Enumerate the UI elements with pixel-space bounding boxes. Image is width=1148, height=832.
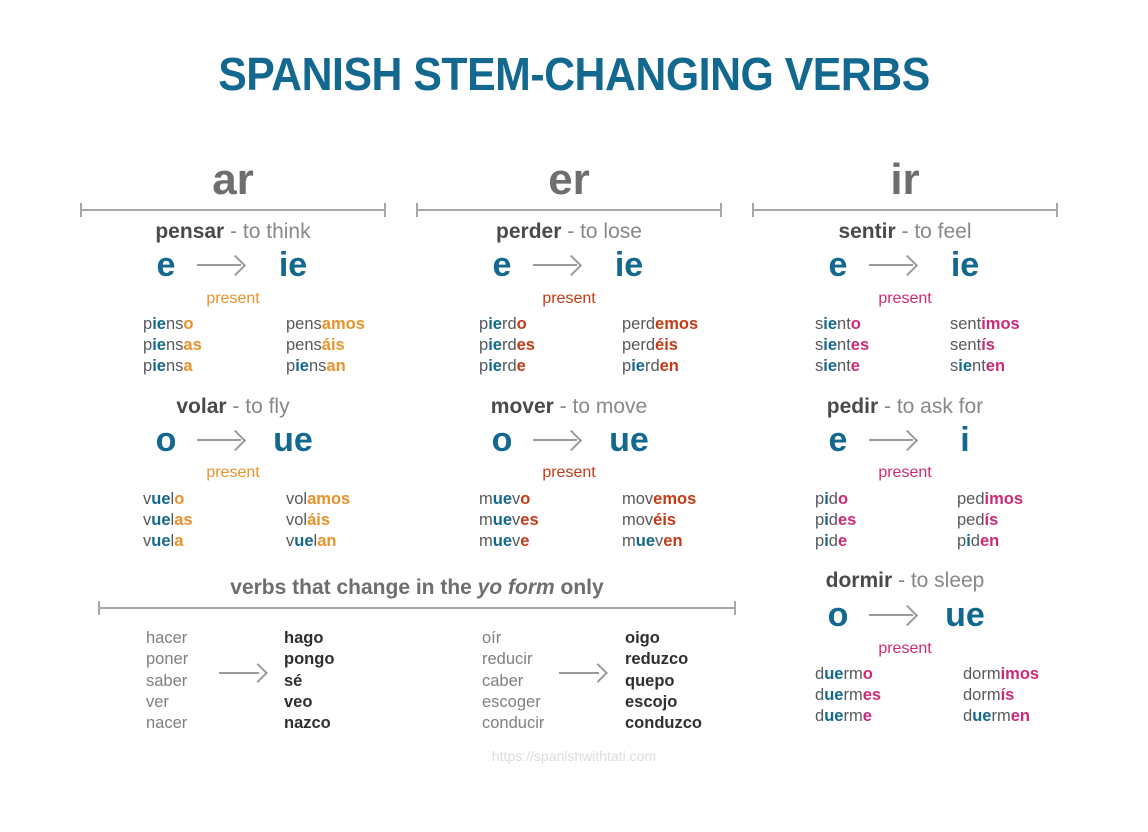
form-segment-gray: m bbox=[622, 532, 636, 550]
tense-label-pensar: present bbox=[80, 290, 386, 308]
verb-translation: to lose bbox=[580, 220, 642, 243]
conjugated-form: piensa bbox=[143, 356, 202, 377]
form-segment-accent: es bbox=[517, 336, 535, 354]
verb-title-pensar: pensar - to think bbox=[80, 220, 386, 244]
form-segment-blue: ue bbox=[294, 532, 313, 550]
yo-title-before: verbs that change in the bbox=[230, 576, 477, 599]
form-segment-gray: ns bbox=[166, 357, 183, 375]
rule-line bbox=[80, 209, 386, 211]
verb-word: pongo bbox=[284, 649, 334, 670]
conjugation-singular-volar: vuelovuelasvuela bbox=[143, 489, 193, 551]
stem-change-volar: o ue bbox=[80, 423, 386, 457]
verb-word: conducir bbox=[482, 713, 544, 734]
verb-dash: - bbox=[227, 395, 246, 418]
verb-word: escoger bbox=[482, 692, 544, 713]
form-segment-accent: e bbox=[863, 707, 872, 725]
form-segment-gray: v bbox=[286, 532, 294, 550]
verb-word: hacer bbox=[146, 628, 188, 649]
stem-change-dormir: o ue bbox=[752, 598, 1058, 632]
form-segment-gray: p bbox=[143, 315, 152, 333]
rule-cap-right bbox=[384, 203, 386, 217]
conjugated-form: pierdo bbox=[479, 314, 535, 335]
verb-infinitive: sentir bbox=[838, 220, 895, 243]
stem-to: ie bbox=[935, 248, 995, 282]
form-segment-gray: s bbox=[815, 336, 823, 354]
verb-infinitive: volar bbox=[176, 395, 226, 418]
conjugated-form: siento bbox=[815, 314, 869, 335]
form-segment-gray: nt bbox=[972, 357, 986, 375]
form-segment-accent: amos bbox=[307, 490, 350, 508]
stem-from: e bbox=[143, 248, 189, 282]
infographic-root: SPANISH STEM-CHANGING VERBS ar er ir pen… bbox=[0, 0, 1148, 832]
conjugated-form: duermen bbox=[963, 706, 1039, 727]
arrow-right-icon bbox=[531, 430, 593, 450]
yo-section-title: verbs that change in the yo form only bbox=[98, 576, 736, 600]
form-segment-gray: s bbox=[815, 315, 823, 333]
verb-title-dormir: dormir - to sleep bbox=[752, 569, 1058, 593]
conjugation-plural-mover: movemosmovéismueven bbox=[622, 489, 696, 551]
verb-word: escojo bbox=[625, 692, 702, 713]
form-segment-gray: d bbox=[963, 707, 972, 725]
stem-change-pensar: e ie bbox=[80, 248, 386, 282]
verb-word: reducir bbox=[482, 649, 544, 670]
form-segment-blue: ie bbox=[488, 357, 502, 375]
stem-to: ue bbox=[599, 423, 659, 457]
form-segment-blue: ie bbox=[488, 315, 502, 333]
form-segment-gray: v bbox=[143, 532, 151, 550]
form-segment-gray: p bbox=[815, 532, 824, 550]
column-heading-ar: ar bbox=[80, 158, 386, 202]
conjugation-plural-pensar: pensamospensáispiensan bbox=[286, 314, 365, 376]
form-segment-accent: a bbox=[174, 532, 183, 550]
yo-title-emphasis: yo form bbox=[478, 576, 555, 599]
rule-line bbox=[752, 209, 1058, 211]
form-segment-accent: emos bbox=[655, 315, 698, 333]
verb-infinitive: pensar bbox=[155, 220, 224, 243]
form-segment-blue: ue bbox=[493, 490, 512, 508]
form-segment-gray: p bbox=[286, 357, 295, 375]
conjugated-form: pierden bbox=[622, 356, 698, 377]
verb-dash: - bbox=[896, 220, 915, 243]
form-segment-accent: e bbox=[517, 357, 526, 375]
conjugated-form: sentimos bbox=[950, 314, 1020, 335]
verb-translation: to think bbox=[243, 220, 311, 243]
verb-dash: - bbox=[878, 395, 897, 418]
arrow-right-icon bbox=[195, 430, 257, 450]
form-segment-gray: m bbox=[479, 511, 493, 529]
form-segment-gray: rm bbox=[843, 665, 862, 683]
form-segment-blue: ue bbox=[151, 490, 170, 508]
verb-title-perder: perder - to lose bbox=[416, 220, 722, 244]
form-segment-gray: p bbox=[622, 357, 631, 375]
conjugated-form: siente bbox=[815, 356, 869, 377]
verb-title-volar: volar - to fly bbox=[80, 395, 386, 419]
stem-from: e bbox=[815, 423, 861, 457]
conjugation-plural-volar: volamosvoláisvuelan bbox=[286, 489, 350, 551]
conjugated-form: duermes bbox=[815, 685, 881, 706]
verb-dash: - bbox=[892, 569, 911, 592]
form-segment-blue: ue bbox=[493, 532, 512, 550]
conjugation-singular-perder: pierdopierdespierde bbox=[479, 314, 535, 376]
form-segment-accent: ís bbox=[985, 511, 999, 529]
rule-cap-right bbox=[720, 203, 722, 217]
verb-word: poner bbox=[146, 649, 188, 670]
form-segment-blue: ue bbox=[824, 686, 843, 704]
verb-translation: to move bbox=[573, 395, 648, 418]
form-segment-blue: ue bbox=[151, 532, 170, 550]
conjugation-singular-pensar: piensopiensaspiensa bbox=[143, 314, 202, 376]
conjugated-form: piensas bbox=[143, 335, 202, 356]
form-segment-accent: an bbox=[317, 532, 336, 550]
yo-forms-group-b: oigoreduzcoquepoescojoconduzco bbox=[625, 628, 702, 734]
form-segment-blue: ue bbox=[636, 532, 655, 550]
conjugated-form: pedís bbox=[957, 510, 1023, 531]
form-segment-gray: sent bbox=[950, 336, 981, 354]
form-segment-blue: ie bbox=[631, 357, 645, 375]
form-segment-accent: en bbox=[663, 532, 682, 550]
stem-from: o bbox=[815, 598, 861, 632]
form-segment-gray: d bbox=[829, 490, 838, 508]
conjugated-form: mueven bbox=[622, 531, 696, 552]
verb-word: saber bbox=[146, 671, 188, 692]
form-segment-gray: d bbox=[815, 707, 824, 725]
verb-word: conduzco bbox=[625, 713, 702, 734]
verb-infinitive: dormir bbox=[826, 569, 893, 592]
rule-cap-left bbox=[752, 203, 754, 217]
form-segment-gray: s bbox=[815, 357, 823, 375]
tense-label-volar: present bbox=[80, 464, 386, 482]
form-segment-gray: p bbox=[143, 357, 152, 375]
form-segment-gray: nt bbox=[837, 357, 851, 375]
tense-label-pedir: present bbox=[752, 464, 1058, 482]
form-segment-accent: áis bbox=[307, 511, 330, 529]
form-segment-accent: en bbox=[660, 357, 679, 375]
conjugated-form: pido bbox=[815, 489, 856, 510]
form-segment-gray: ped bbox=[957, 511, 985, 529]
verb-translation: to sleep bbox=[911, 569, 985, 592]
column-heading-er: er bbox=[416, 158, 722, 202]
conjugated-form: muevo bbox=[479, 489, 539, 510]
form-segment-accent: as bbox=[174, 511, 192, 529]
form-segment-blue: ue bbox=[493, 511, 512, 529]
verb-infinitive: mover bbox=[491, 395, 554, 418]
column-rule-ar bbox=[80, 203, 386, 217]
form-segment-accent: es bbox=[520, 511, 538, 529]
rule-cap-left bbox=[80, 203, 82, 217]
stem-to: i bbox=[935, 423, 995, 457]
page-title: SPANISH STEM-CHANGING VERBS bbox=[40, 47, 1108, 101]
form-segment-blue: ue bbox=[151, 511, 170, 529]
conjugated-form: movemos bbox=[622, 489, 696, 510]
form-segment-gray: rd bbox=[645, 357, 660, 375]
verb-dash: - bbox=[561, 220, 580, 243]
conjugated-form: pides bbox=[815, 510, 856, 531]
conjugated-form: pensamos bbox=[286, 314, 365, 335]
conjugated-form: sienten bbox=[950, 356, 1020, 377]
verb-word: caber bbox=[482, 671, 544, 692]
form-segment-gray: rd bbox=[502, 315, 517, 333]
stem-to: ie bbox=[263, 248, 323, 282]
form-segment-accent: amos bbox=[322, 315, 365, 333]
form-segment-accent: en bbox=[1011, 707, 1030, 725]
conjugated-form: movéis bbox=[622, 510, 696, 531]
form-segment-blue: ie bbox=[152, 357, 166, 375]
form-segment-gray: mov bbox=[622, 511, 653, 529]
form-segment-gray: d bbox=[815, 665, 824, 683]
form-segment-gray: vol bbox=[286, 511, 307, 529]
conjugation-singular-dormir: duermoduermesduerme bbox=[815, 664, 881, 726]
form-segment-gray: dorm bbox=[963, 686, 1001, 704]
form-segment-accent: áis bbox=[322, 336, 345, 354]
form-segment-blue: ie bbox=[823, 336, 837, 354]
form-segment-blue: ue bbox=[824, 665, 843, 683]
form-segment-accent: as bbox=[183, 336, 201, 354]
rule-cap-left bbox=[98, 601, 100, 615]
form-segment-accent: o bbox=[517, 315, 527, 333]
rule-cap-right bbox=[734, 601, 736, 615]
verb-translation: to feel bbox=[914, 220, 971, 243]
conjugated-form: pide bbox=[815, 531, 856, 552]
form-segment-gray: p bbox=[479, 357, 488, 375]
conjugated-form: perdemos bbox=[622, 314, 698, 335]
form-segment-gray: dorm bbox=[963, 665, 1001, 683]
conjugated-form: dormís bbox=[963, 685, 1039, 706]
conjugated-form: pierdes bbox=[479, 335, 535, 356]
stem-to: ue bbox=[263, 423, 323, 457]
form-segment-accent: an bbox=[326, 357, 345, 375]
form-segment-gray: nt bbox=[837, 315, 851, 333]
form-segment-gray: ns bbox=[309, 357, 326, 375]
form-segment-gray: rm bbox=[991, 707, 1010, 725]
rule-cap-left bbox=[416, 203, 418, 217]
form-segment-gray: ns bbox=[166, 336, 183, 354]
form-segment-gray: m bbox=[479, 490, 493, 508]
yo-section-rule bbox=[98, 601, 736, 615]
rule-line bbox=[416, 209, 722, 211]
conjugated-form: volamos bbox=[286, 489, 350, 510]
form-segment-gray: p bbox=[479, 336, 488, 354]
form-segment-accent: e bbox=[838, 532, 847, 550]
verb-word: quepo bbox=[625, 671, 702, 692]
arrow-right-icon bbox=[867, 430, 929, 450]
stem-from: e bbox=[815, 248, 861, 282]
conjugation-singular-mover: muevomuevesmueve bbox=[479, 489, 539, 551]
tense-label-perder: present bbox=[416, 290, 722, 308]
form-segment-accent: o bbox=[838, 490, 848, 508]
form-segment-gray: mov bbox=[622, 490, 653, 508]
form-segment-accent: o bbox=[863, 665, 873, 683]
conjugated-form: pierde bbox=[479, 356, 535, 377]
conjugation-singular-pedir: pidopidespide bbox=[815, 489, 856, 551]
verb-title-mover: mover - to move bbox=[416, 395, 722, 419]
tense-label-mover: present bbox=[416, 464, 722, 482]
form-segment-accent: e bbox=[851, 357, 860, 375]
form-segment-accent: o bbox=[174, 490, 184, 508]
form-segment-accent: imos bbox=[981, 315, 1020, 333]
column-rule-er bbox=[416, 203, 722, 217]
form-segment-blue: ie bbox=[295, 357, 309, 375]
yo-title-after: only bbox=[555, 576, 604, 599]
arrow-right-icon bbox=[867, 255, 929, 275]
form-segment-accent: es bbox=[863, 686, 881, 704]
conjugated-form: mueves bbox=[479, 510, 539, 531]
stem-change-perder: e ie bbox=[416, 248, 722, 282]
conjugated-form: vuelan bbox=[286, 531, 350, 552]
tense-label-sentir: present bbox=[752, 290, 1058, 308]
conjugation-plural-dormir: dormimosdormísduermen bbox=[963, 664, 1039, 726]
conjugated-form: duerme bbox=[815, 706, 881, 727]
form-segment-gray: perd bbox=[622, 315, 655, 333]
verb-translation: to fly bbox=[245, 395, 289, 418]
form-segment-accent: es bbox=[851, 336, 869, 354]
verb-infinitive: perder bbox=[496, 220, 561, 243]
footer-url: https://spanishwithtati.com bbox=[0, 748, 1148, 764]
form-segment-gray: m bbox=[479, 532, 493, 550]
form-segment-accent: imos bbox=[985, 490, 1024, 508]
form-segment-blue: ue bbox=[972, 707, 991, 725]
form-segment-gray: vol bbox=[286, 490, 307, 508]
form-segment-gray: d bbox=[815, 686, 824, 704]
form-segment-gray: d bbox=[829, 532, 838, 550]
form-segment-gray: v bbox=[143, 511, 151, 529]
form-segment-accent: e bbox=[520, 532, 529, 550]
arrow-right-icon-group-b bbox=[559, 664, 615, 682]
conjugated-form: vuela bbox=[143, 531, 193, 552]
form-segment-accent: imos bbox=[1001, 665, 1040, 683]
form-segment-gray: v bbox=[143, 490, 151, 508]
form-segment-gray: pens bbox=[286, 336, 322, 354]
yo-forms-group-a: hagopongoséveonazco bbox=[284, 628, 334, 734]
conjugation-plural-perder: perdemosperdéispierden bbox=[622, 314, 698, 376]
verb-word: veo bbox=[284, 692, 334, 713]
form-segment-accent: a bbox=[183, 357, 192, 375]
conjugated-form: sentís bbox=[950, 335, 1020, 356]
form-segment-gray: nt bbox=[837, 336, 851, 354]
stem-change-mover: o ue bbox=[416, 423, 722, 457]
form-segment-accent: es bbox=[838, 511, 856, 529]
form-segment-blue: ue bbox=[824, 707, 843, 725]
conjugated-form: pensáis bbox=[286, 335, 365, 356]
form-segment-blue: ie bbox=[823, 357, 837, 375]
form-segment-gray: p bbox=[143, 336, 152, 354]
conjugated-form: mueve bbox=[479, 531, 539, 552]
form-segment-accent: emos bbox=[653, 490, 696, 508]
conjugated-form: perdéis bbox=[622, 335, 698, 356]
form-segment-gray: p bbox=[957, 532, 966, 550]
conjugation-plural-sentir: sentimossentíssienten bbox=[950, 314, 1020, 376]
stem-from: o bbox=[143, 423, 189, 457]
conjugated-form: dormimos bbox=[963, 664, 1039, 685]
verb-word: nazco bbox=[284, 713, 334, 734]
stem-change-pedir: e i bbox=[752, 423, 1058, 457]
form-segment-accent: éis bbox=[655, 336, 678, 354]
form-segment-accent: en bbox=[986, 357, 1005, 375]
form-segment-gray: d bbox=[971, 532, 980, 550]
conjugated-form: pienso bbox=[143, 314, 202, 335]
stem-change-sentir: e ie bbox=[752, 248, 1058, 282]
rule-cap-right bbox=[1056, 203, 1058, 217]
conjugated-form: pedimos bbox=[957, 489, 1023, 510]
yo-infinitives-group-a: hacerponersabervernacer bbox=[146, 628, 188, 734]
verb-dash: - bbox=[554, 395, 573, 418]
form-segment-gray: sent bbox=[950, 315, 981, 333]
form-segment-gray: p bbox=[815, 511, 824, 529]
verb-title-sentir: sentir - to feel bbox=[752, 220, 1058, 244]
form-segment-accent: éis bbox=[653, 511, 676, 529]
verb-word: hago bbox=[284, 628, 334, 649]
stem-to: ue bbox=[935, 598, 995, 632]
yo-infinitives-group-b: oírreducircaberescogerconducir bbox=[482, 628, 544, 734]
arrow-right-icon bbox=[195, 255, 257, 275]
form-segment-gray: rd bbox=[502, 336, 517, 354]
form-segment-gray: d bbox=[829, 511, 838, 529]
conjugated-form: piensan bbox=[286, 356, 365, 377]
stem-to: ie bbox=[599, 248, 659, 282]
column-heading-ir: ir bbox=[752, 158, 1058, 202]
form-segment-blue: ie bbox=[152, 336, 166, 354]
arrow-right-icon bbox=[531, 255, 593, 275]
conjugated-form: duermo bbox=[815, 664, 881, 685]
verb-translation: to ask for bbox=[897, 395, 983, 418]
verb-dash: - bbox=[224, 220, 243, 243]
column-rule-ir bbox=[752, 203, 1058, 217]
conjugated-form: piden bbox=[957, 531, 1023, 552]
form-segment-blue: ie bbox=[152, 315, 166, 333]
verb-word: oír bbox=[482, 628, 544, 649]
form-segment-gray: ped bbox=[957, 490, 985, 508]
form-segment-accent: o bbox=[183, 315, 193, 333]
conjugation-plural-pedir: pedimospedíspiden bbox=[957, 489, 1023, 551]
form-segment-gray: perd bbox=[622, 336, 655, 354]
stem-from: o bbox=[479, 423, 525, 457]
conjugated-form: sientes bbox=[815, 335, 869, 356]
verb-word: oigo bbox=[625, 628, 702, 649]
verb-infinitive: pedir bbox=[827, 395, 878, 418]
conjugation-singular-sentir: sientosientessiente bbox=[815, 314, 869, 376]
form-segment-gray: rm bbox=[843, 707, 862, 725]
form-segment-blue: ie bbox=[958, 357, 972, 375]
form-segment-accent: en bbox=[980, 532, 999, 550]
form-segment-accent: o bbox=[520, 490, 530, 508]
form-segment-accent: o bbox=[851, 315, 861, 333]
rule-line bbox=[98, 607, 736, 609]
verb-word: reduzco bbox=[625, 649, 702, 670]
form-segment-gray: p bbox=[815, 490, 824, 508]
form-segment-gray: p bbox=[479, 315, 488, 333]
verb-word: nacer bbox=[146, 713, 188, 734]
verb-title-pedir: pedir - to ask for bbox=[752, 395, 1058, 419]
verb-word: sé bbox=[284, 671, 334, 692]
conjugated-form: vuelo bbox=[143, 489, 193, 510]
form-segment-gray: rm bbox=[843, 686, 862, 704]
conjugated-form: voláis bbox=[286, 510, 350, 531]
form-segment-accent: ís bbox=[1001, 686, 1015, 704]
form-segment-blue: ie bbox=[823, 315, 837, 333]
form-segment-gray: pens bbox=[286, 315, 322, 333]
conjugated-form: vuelas bbox=[143, 510, 193, 531]
arrow-right-icon bbox=[867, 605, 929, 625]
form-segment-gray: ns bbox=[166, 315, 183, 333]
verb-word: ver bbox=[146, 692, 188, 713]
form-segment-accent: ís bbox=[981, 336, 995, 354]
arrow-right-icon-group-a bbox=[219, 664, 275, 682]
form-segment-gray: s bbox=[950, 357, 958, 375]
tense-label-dormir: present bbox=[752, 640, 1058, 658]
stem-from: e bbox=[479, 248, 525, 282]
form-segment-blue: ie bbox=[488, 336, 502, 354]
form-segment-gray: rd bbox=[502, 357, 517, 375]
